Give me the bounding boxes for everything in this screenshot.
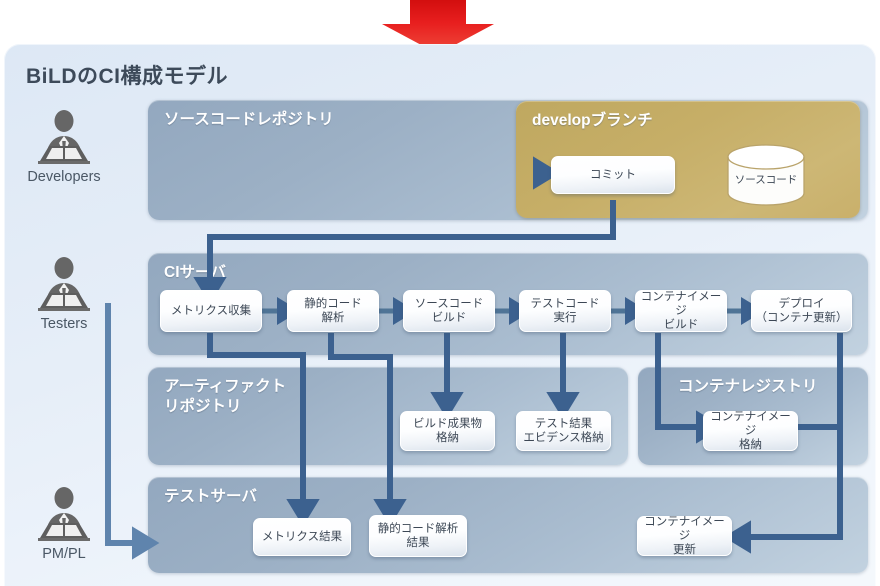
panel-test-server-title: テストサーバ [164,487,257,507]
person-at-laptop-icon [32,487,96,545]
actor-label: Developers [8,169,120,185]
node-source-code-store[interactable]: ソースコード [724,144,808,206]
node-container-image-update[interactable]: コンテナイメージ 更新 [637,516,732,556]
node-metrics-result[interactable]: メトリクス結果 [253,518,351,556]
panel-container-registry-title: コンテナレジストリ [678,377,818,397]
actor-developers: Developers [8,110,120,185]
node-label: ソースコード [724,172,808,187]
actor-label: Testers [8,316,120,332]
node-source-build[interactable]: ソースコード ビルド [403,290,495,332]
person-at-laptop-icon [32,110,96,168]
diagram-canvas: BiLDのCI構成モデル ソースコードレポジトリ developブランチ CIサ… [0,0,880,586]
node-container-image-store[interactable]: コンテナイメージ 格納 [703,411,798,451]
node-test-code-run[interactable]: テストコード 実行 [519,290,611,332]
node-deploy[interactable]: デプロイ （コンテナ更新） [751,290,852,332]
actor-pm-pl: PM/PL [8,487,120,562]
actor-label: PM/PL [8,546,120,562]
panel-ci-server-title: CIサーバ [164,263,226,283]
node-metrics-collect[interactable]: メトリクス収集 [160,290,262,332]
panel-develop-branch-title: developブランチ [532,111,653,131]
person-at-laptop-icon [32,257,96,315]
node-build-artifact-store[interactable]: ビルド成果物 格納 [400,411,495,451]
node-static-code-analysis[interactable]: 静的コード 解析 [287,290,379,332]
panel-source-repo-title: ソースコードレポジトリ [164,110,334,130]
node-test-evidence-store[interactable]: テスト結果 エビデンス格納 [516,411,611,451]
node-commit[interactable]: コミット [551,156,675,194]
panel-artifact-repo-title: アーティファクト リポジトリ [164,377,286,417]
node-static-analysis-result[interactable]: 静的コード解析 結果 [369,515,467,557]
node-container-image-build[interactable]: コンテナイメージ ビルド [635,290,727,332]
page-title: BiLDのCI構成モデル [26,60,228,90]
actor-testers: Testers [8,257,120,332]
